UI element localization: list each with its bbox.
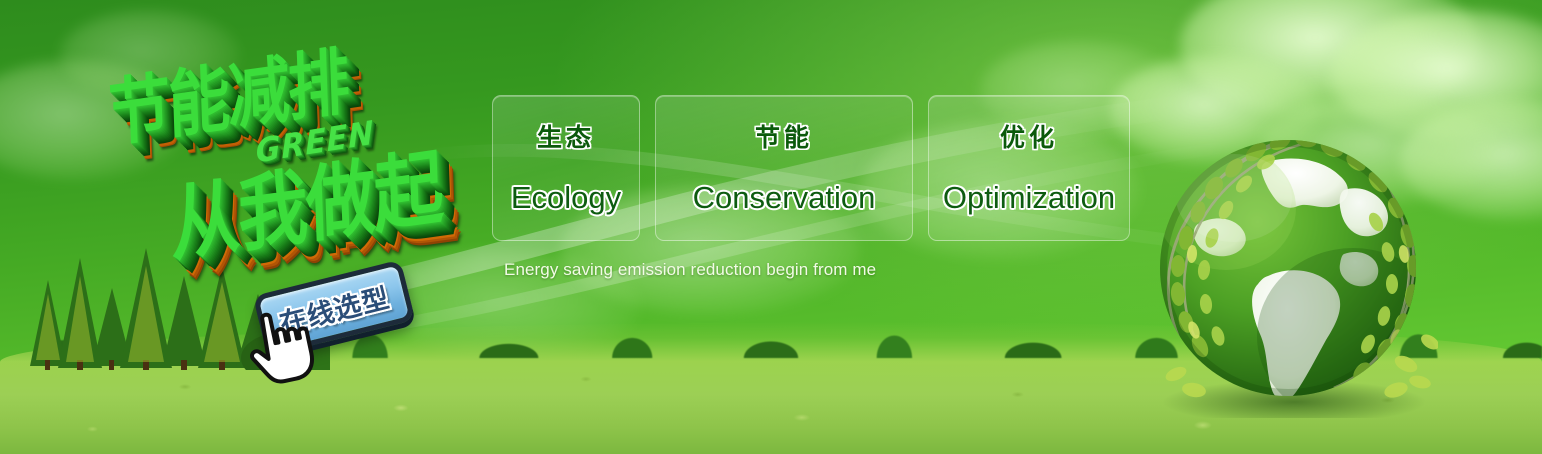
feature-card-optimization[interactable]: 优化 Optimization [928,95,1130,241]
feature-card-title-cn: 生态 [537,118,595,154]
feature-card-title-cn: 优化 [1000,118,1058,154]
headline-3d-artwork: 节能减排 GREEN 从我做起 [92,31,490,274]
hand-pointer-icon [238,300,324,390]
green-energy-banner: 节能减排 GREEN 从我做起 在线选型 生态 Ecology 节能 Conse… [0,0,1542,454]
feature-card-title-en: Ecology [511,180,621,216]
feature-card-title-en: Optimization [943,180,1115,216]
banner-tagline: Energy saving emission reduction begin f… [504,260,876,280]
feature-card-ecology[interactable]: 生态 Ecology [492,95,640,241]
feature-card-title-en: Conservation [693,180,876,216]
feature-card-title-cn: 节能 [755,118,813,154]
leaf-covered-globe-icon [1148,126,1438,418]
feature-card-list: 生态 Ecology 节能 Conservation 优化 Optimizati… [492,95,1130,241]
feature-card-conservation[interactable]: 节能 Conservation [655,95,913,241]
